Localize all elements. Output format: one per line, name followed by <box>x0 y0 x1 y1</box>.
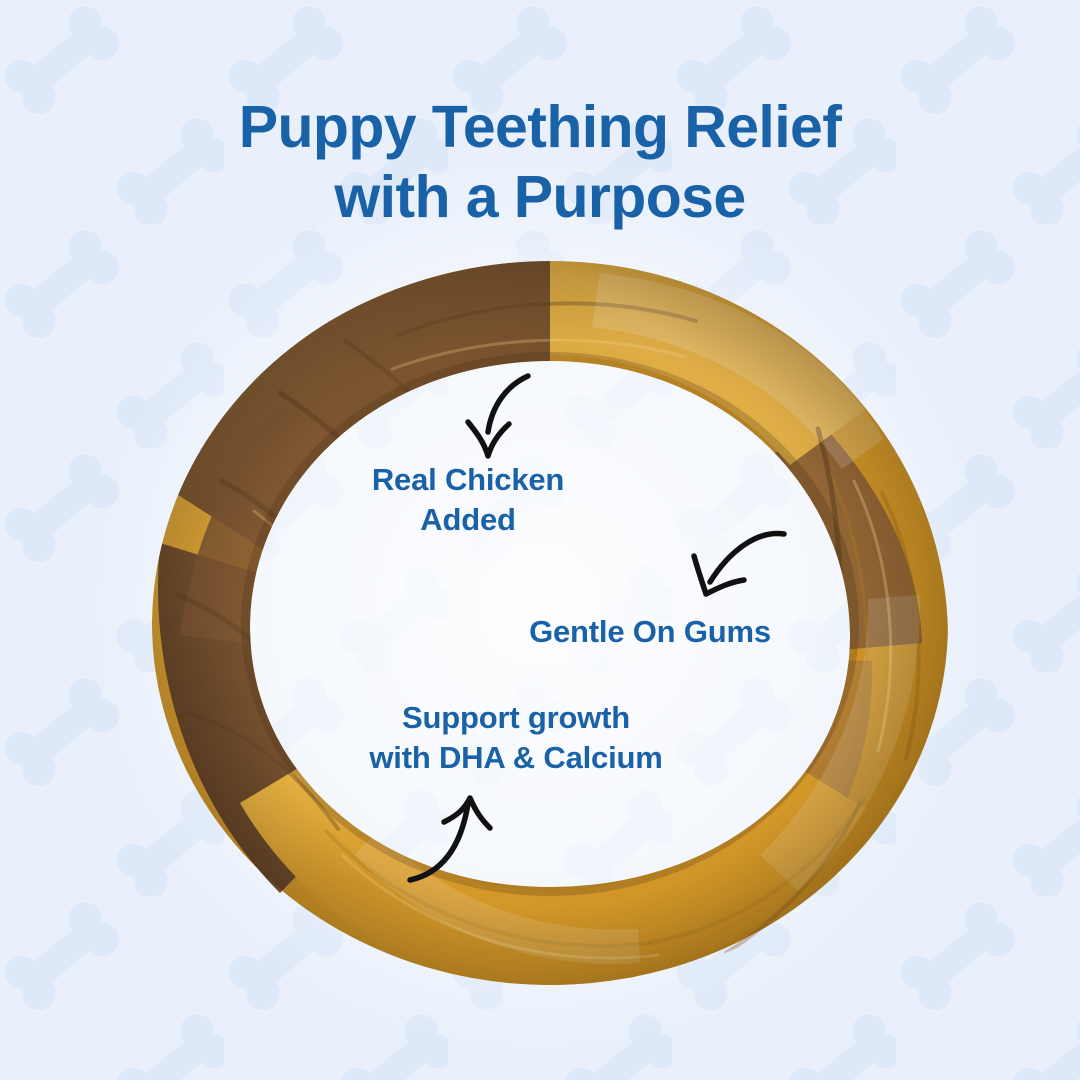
promo-graphic-canvas: Puppy Teething Relief with a Purpose <box>0 0 1080 1080</box>
callout-gentle-on-gums: Gentle On Gums <box>455 612 845 652</box>
page-title-line-1: Puppy Teething Relief <box>0 92 1080 163</box>
page-title-line-2: with a Purpose <box>0 162 1080 233</box>
page-title: Puppy Teething Relief with a Purpose <box>0 92 1080 234</box>
callout-real-chicken-added: Real Chicken Added <box>322 460 614 539</box>
callout-support-growth: Support growth with DHA & Calcium <box>288 698 744 777</box>
